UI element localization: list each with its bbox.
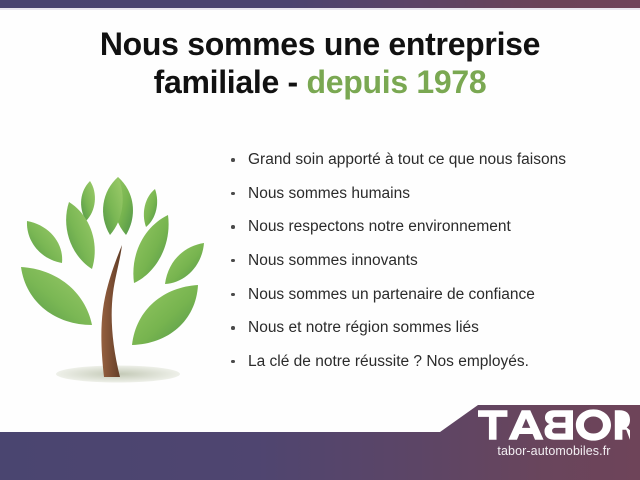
list-item-label: Nous et notre région sommes liés xyxy=(248,319,479,336)
list-item: Nous et notre région sommes liés xyxy=(228,318,628,338)
bullet-dot-icon xyxy=(231,225,235,229)
list-item: Grand soin apporté à tout ce que nous fa… xyxy=(228,150,628,170)
top-hairline-divider xyxy=(0,8,640,10)
list-item: Nous sommes humains xyxy=(228,184,628,204)
list-item: Nous respectons notre environnement xyxy=(228,217,628,237)
list-item: La clé de notre réussite ? Nos employés. xyxy=(228,352,628,372)
tree-trunk xyxy=(101,245,122,377)
tree-illustration-svg xyxy=(8,145,223,395)
tree-illustration xyxy=(8,145,223,395)
title-line-1: Nous sommes une entreprise xyxy=(0,26,640,64)
brand-footer-band: tabor-automobiles.fr xyxy=(0,400,640,480)
bullet-dot-icon xyxy=(231,192,235,196)
list-item-label: Nous sommes humains xyxy=(248,185,410,202)
page-title: Nous sommes une entreprise familiale - d… xyxy=(0,26,640,102)
brand-logo[interactable]: tabor-automobiles.fr xyxy=(478,408,633,458)
bullet-dot-icon xyxy=(231,293,235,297)
tree-leaves xyxy=(21,177,204,345)
list-item-label: La clé de notre réussite ? Nos employés. xyxy=(248,353,529,370)
list-item: Nous sommes un partenaire de confiance xyxy=(228,285,628,305)
title-line-2-static: familiale - xyxy=(154,64,307,100)
title-accent-since: depuis 1978 xyxy=(307,64,487,100)
bullet-dot-icon xyxy=(231,158,235,162)
list-item-label: Nous respectons notre environnement xyxy=(248,218,511,235)
bullet-dot-icon xyxy=(231,259,235,263)
list-item-label: Nous sommes innovants xyxy=(248,252,418,269)
list-item: Nous sommes innovants xyxy=(228,251,628,271)
list-item-label: Grand soin apporté à tout ce que nous fa… xyxy=(248,151,566,168)
top-accent-bar xyxy=(0,0,640,8)
bullet-dot-icon xyxy=(231,326,235,330)
brand-tagline[interactable]: tabor-automobiles.fr xyxy=(478,444,630,458)
slide-canvas: Nous sommes une entreprise familiale - d… xyxy=(0,0,640,480)
value-proposition-list: Grand soin apporté à tout ce que nous fa… xyxy=(228,150,628,385)
bullet-dot-icon xyxy=(231,360,235,364)
title-line-2: familiale - depuis 1978 xyxy=(0,64,640,102)
tabor-wordmark-icon[interactable] xyxy=(478,408,630,442)
list-item-label: Nous sommes un partenaire de confiance xyxy=(248,286,535,303)
